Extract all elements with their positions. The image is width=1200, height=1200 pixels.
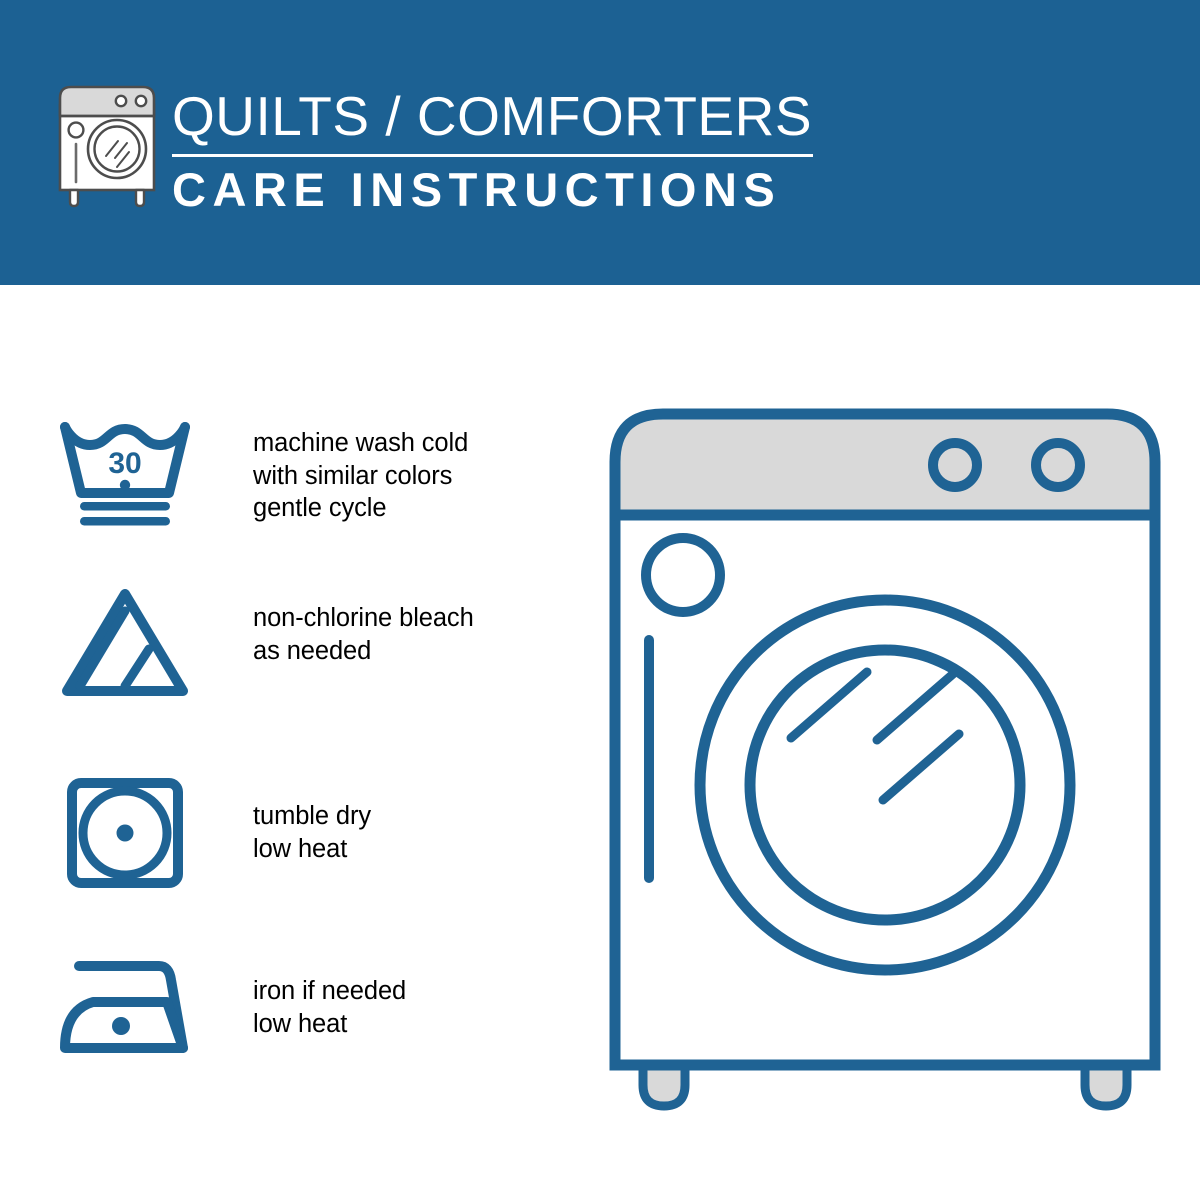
- wash-temperature-value: 30: [108, 447, 141, 480]
- care-label-line: low heat: [253, 1008, 406, 1041]
- washing-machine-illustration: [595, 400, 1175, 1120]
- care-label-iron: iron if needed low heat: [253, 975, 406, 1040]
- care-instructions-list: 30 machine wash cold with similar colors…: [0, 285, 560, 1200]
- header-logo-washing-machine-icon: [55, 78, 159, 210]
- wash-tub-30-gentle-icon: 30: [55, 415, 195, 535]
- care-label-line: iron if needed: [253, 975, 406, 1008]
- care-label-bleach: non-chlorine bleach as needed: [253, 602, 474, 667]
- care-label-line: non-chlorine bleach: [253, 602, 474, 635]
- knob-left: [933, 443, 977, 487]
- non-chlorine-bleach-triangle-icon: [55, 585, 195, 705]
- page-title-secondary: CARE INSTRUCTIONS: [172, 163, 832, 217]
- care-label-line: gentle cycle: [253, 492, 468, 525]
- door-inner-ring: [750, 650, 1020, 920]
- care-label-line: tumble dry: [253, 800, 371, 833]
- title-divider: [172, 154, 813, 157]
- detergent-dial: [646, 538, 720, 612]
- header-band: QUILTS / COMFORTERS CARE INSTRUCTIONS: [0, 0, 1200, 285]
- page-title-primary: QUILTS / COMFORTERS: [172, 86, 832, 146]
- care-label-tumble-dry: tumble dry low heat: [253, 800, 371, 865]
- tumble-dry-low-heat-icon: [55, 775, 195, 895]
- knob-right: [1036, 443, 1080, 487]
- care-label-line: low heat: [253, 833, 371, 866]
- header-title-group: QUILTS / COMFORTERS CARE INSTRUCTIONS: [172, 86, 832, 217]
- care-label-machine-wash: machine wash cold with similar colors ge…: [253, 427, 468, 525]
- care-label-line: with similar colors: [253, 460, 468, 493]
- care-label-line: as needed: [253, 635, 474, 668]
- care-label-line: machine wash cold: [253, 427, 468, 460]
- iron-low-heat-icon: [55, 950, 195, 1070]
